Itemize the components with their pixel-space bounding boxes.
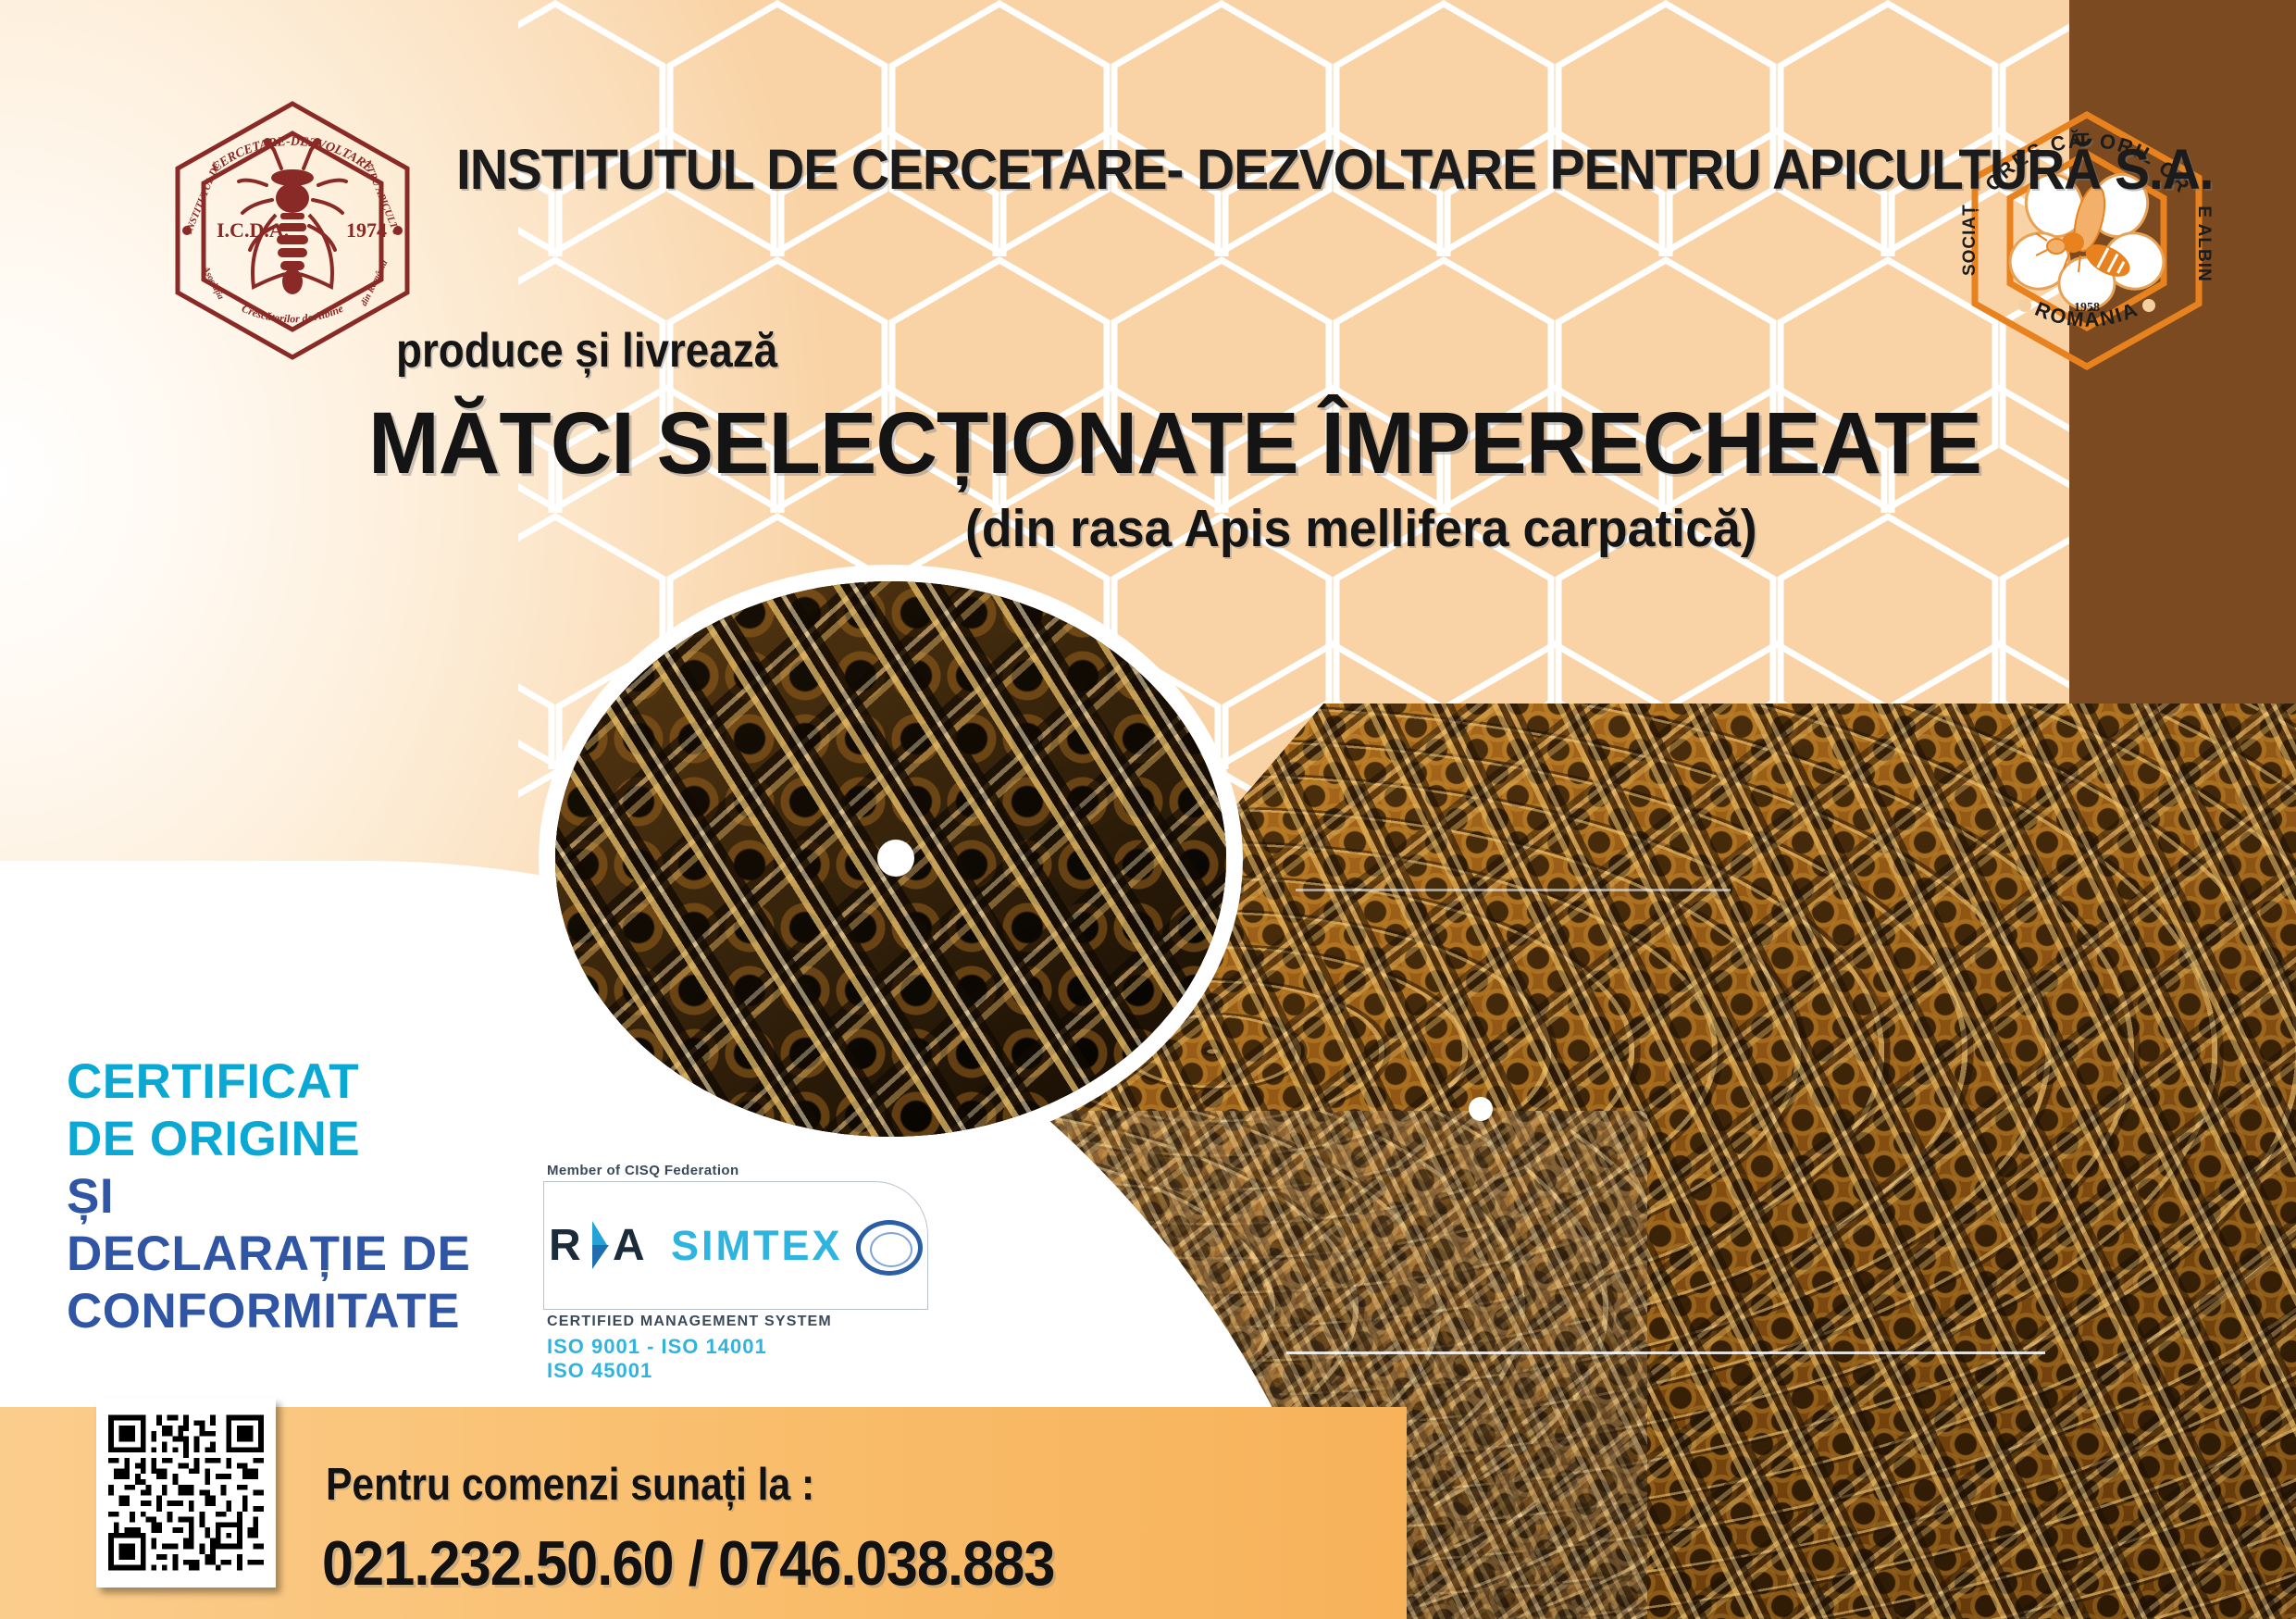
oval-queen-marker-dot: [877, 840, 914, 877]
poster-root: CERCETARE-DEZVOLTARE INSTITUTUL DE PENTR…: [0, 0, 2296, 1619]
rina-iso-line-1: ISO 9001 - ISO 14001: [547, 1335, 767, 1359]
queen-marker-dot: [1469, 1097, 1493, 1121]
rina-arrow-icon-lower: [592, 1245, 609, 1269]
rina-letter-a: A: [613, 1220, 645, 1271]
certificate-line: ȘI: [67, 1168, 585, 1226]
photo-seam-line: [1286, 1351, 2045, 1354]
rina-iso-line-2: ISO 45001: [547, 1359, 652, 1383]
contact-phone-numbers[interactable]: 021.232.50.60 / 0746.038.883: [322, 1527, 1055, 1600]
kicker-text: produce și livrează: [396, 323, 777, 379]
contact-label: Pentru comenzi sunați la :: [326, 1459, 814, 1511]
certificate-line: DECLARAȚIE DE: [67, 1226, 585, 1283]
rina-letter-r: R: [549, 1220, 580, 1271]
rina-arrow-icon: [592, 1221, 607, 1245]
rina-simtex-wordmark: SIMTEX: [671, 1222, 843, 1270]
certificate-line: DE ORIGINE: [67, 1111, 585, 1168]
product-subtitle: (din rasa Apis mellifera carpatică): [965, 498, 1757, 559]
rina-certified-system-text: CERTIFIED MANAGEMENT SYSTEM: [547, 1314, 832, 1330]
qr-code[interactable]: [96, 1398, 276, 1588]
oval-bee-photo: [555, 581, 1226, 1137]
certificate-line: CERTIFICAT: [67, 1053, 585, 1111]
headline-block: INSTITUTUL DE CERCETARE- DEZVOLTARE PENT…: [0, 0, 2296, 648]
page-title: INSTITUTUL DE CERCETARE- DEZVOLTARE PENT…: [456, 137, 2213, 202]
product-title: MĂTCI SELECȚIONATE ÎMPERECHEATE: [368, 393, 1981, 494]
certificate-line: CONFORMITATE: [67, 1283, 585, 1340]
certificate-block: CERTIFICAT DE ORIGINE ȘI DECLARAȚIE DE C…: [67, 1053, 585, 1340]
rina-simtex-logo: Member of CISQ Federation R A SIMTEX CER…: [541, 1163, 939, 1381]
photo-seam-line-upper: [1296, 889, 1731, 891]
rina-member-text: Member of CISQ Federation: [547, 1163, 739, 1178]
rina-seal-icon: [856, 1220, 923, 1276]
